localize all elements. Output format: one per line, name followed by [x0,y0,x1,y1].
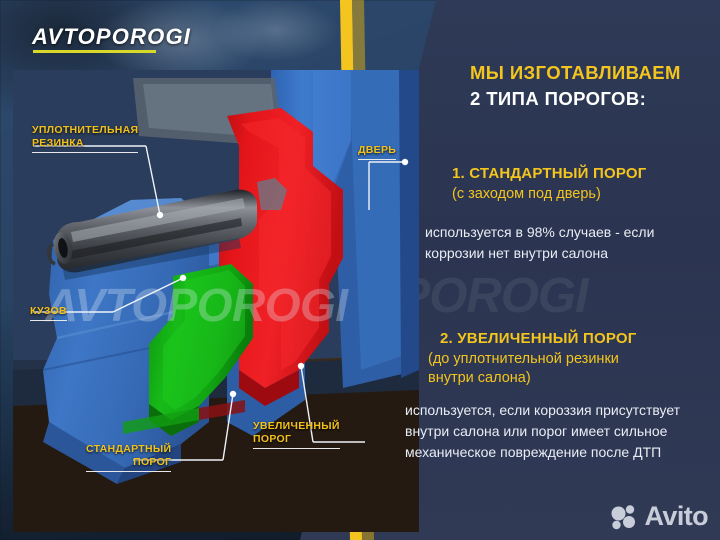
label-rubber-seal: УПЛОТНИТЕЛЬНАЯ РЕЗИНКА [32,124,138,153]
section1-body: используется в 98% случаев - если корроз… [425,222,710,264]
section2-title: 2. УВЕЛИЧЕННЫЙ ПОРОГ [440,330,720,347]
label-rubber-seal-line2: РЕЗИНКА [32,137,138,150]
label-standard-sill-line2: ПОРОГ [86,456,171,469]
panel-heading-line1: МЫ ИЗГОТАВЛИВАЕМ [470,62,710,84]
label-standard-sill-line1: СТАНДАРТНЫЙ [86,443,171,456]
section2-subtitle-line2: внутри салона) [428,369,718,388]
label-door: ДВЕРЬ [358,144,396,160]
section1-subtitle: (с заходом под дверь) [452,186,717,202]
label-standard-sill: СТАНДАРТНЫЙ ПОРОГ [86,443,171,472]
label-enlarged-sill-line2: ПОРОГ [253,433,340,446]
brand-logo: AVTOPOROGI [32,24,191,50]
avito-wordmark: Avito [645,501,709,532]
section1-title: 1. СТАНДАРТНЫЙ ПОРОГ [452,165,717,182]
section2-subtitle: (до уплотнительной резинки внутри салона… [428,350,718,388]
section2-subtitle-line1: (до уплотнительной резинки [428,350,718,369]
label-rubber-seal-line1: УПЛОТНИТЕЛЬНАЯ [32,124,138,137]
brand-logo-underline [33,50,156,53]
label-enlarged-sill-line1: УВЕЛИЧЕННЫЙ [253,420,340,433]
label-car-body: КУЗОВ [30,305,67,321]
panel-heading-line2: 2 ТИПА ПОРОГОВ: [470,88,710,110]
avito-logo-icon [610,504,640,530]
label-enlarged-sill: УВЕЛИЧЕННЫЙ ПОРОГ [253,420,340,449]
section2-body: используется, если короззия присутствует… [405,400,710,463]
avito-watermark: Avito [610,501,709,532]
infographic-canvas: AVTOPOROGI AVTOPOROGI [0,0,720,540]
